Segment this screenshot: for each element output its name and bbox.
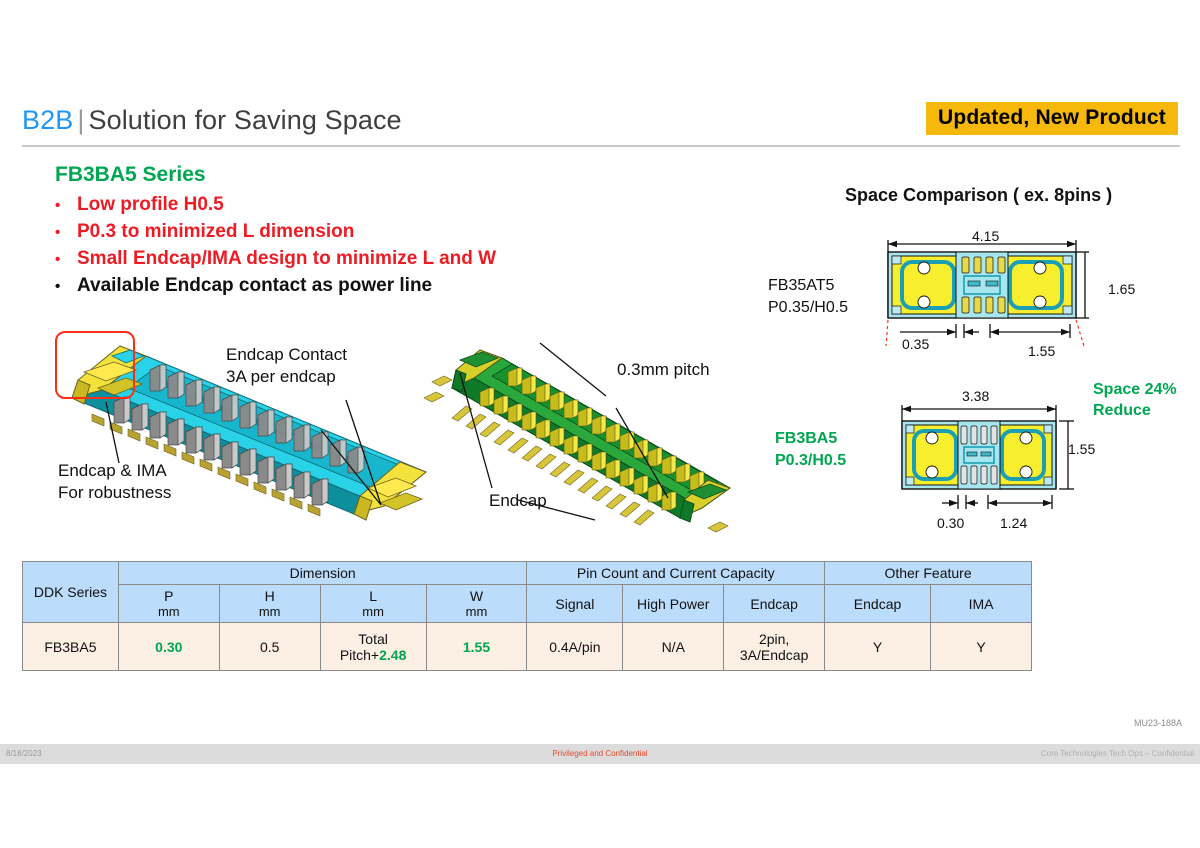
page-title-separator: | bbox=[73, 105, 88, 135]
page-title-accent: B2B bbox=[22, 105, 73, 135]
list-item-label: Available Endcap contact as power line bbox=[77, 273, 432, 300]
page-title: B2B|Solution for Saving Space bbox=[22, 105, 402, 136]
callout-endcap: Endcap bbox=[489, 491, 547, 511]
connector-topview-fb35at5 bbox=[880, 228, 1090, 348]
cell-ima-feature: Y bbox=[931, 623, 1032, 671]
feature-list: • Low profile H0.5 • P0.3 to minimized L… bbox=[55, 192, 695, 300]
callout-endcap-ima: Endcap & IMA For robustness bbox=[58, 460, 171, 505]
cell-endcap-feature: Y bbox=[825, 623, 931, 671]
header-endcap-feature: Endcap bbox=[825, 585, 931, 623]
table-row: FB3BA5 0.30 0.5 Total Pitch+2.48 1.55 0.… bbox=[23, 623, 1032, 671]
document-code: MU23-188A bbox=[1134, 718, 1182, 728]
footer-org: Core Technologies Tech Ops – Confidentia… bbox=[1041, 749, 1194, 758]
footer-date: 8/18/2023 bbox=[6, 749, 42, 758]
header-p: Pmm bbox=[118, 585, 219, 623]
footer-confidential-notice: Privileged and Confidential bbox=[552, 749, 647, 758]
header-pin-count: Pin Count and Current Capacity bbox=[527, 562, 825, 585]
header-ima-feature: IMA bbox=[931, 585, 1032, 623]
header-ddk-series: DDK Series bbox=[23, 562, 119, 623]
comparison-title: Space Comparison ( ex. 8pins ) bbox=[845, 185, 1112, 206]
dim-fb35at5-width: 4.15 bbox=[972, 228, 999, 244]
list-item-label: Low profile H0.5 bbox=[77, 192, 224, 219]
list-item-label: Small Endcap/IMA design to minimize L an… bbox=[77, 246, 496, 273]
header-high-power: High Power bbox=[623, 585, 724, 623]
cell-high-power: N/A bbox=[623, 623, 724, 671]
callout-endcap-contact: Endcap Contact 3A per endcap bbox=[226, 344, 347, 389]
connector-topview-fb3ba5 bbox=[880, 393, 1090, 521]
bullet-icon: • bbox=[55, 222, 77, 243]
dim-fb3ba5-pitch: 0.30 bbox=[937, 515, 964, 531]
cell-p: 0.30 bbox=[118, 623, 219, 671]
dim-fb35at5-height: 1.65 bbox=[1108, 281, 1135, 297]
spec-table: DDK Series Dimension Pin Count and Curre… bbox=[22, 561, 1032, 671]
header-endcap-current: Endcap bbox=[724, 585, 825, 623]
title-divider bbox=[22, 145, 1180, 147]
header-signal: Signal bbox=[527, 585, 623, 623]
list-item-label: P0.3 to minimized L dimension bbox=[77, 219, 354, 246]
bullet-icon: • bbox=[55, 249, 77, 270]
bullet-icon: • bbox=[55, 276, 77, 297]
footer-bar: 8/18/2023 Privileged and Confidential Co… bbox=[0, 744, 1200, 764]
cell-w: 1.55 bbox=[426, 623, 527, 671]
cell-signal: 0.4A/pin bbox=[527, 623, 623, 671]
space-reduce-note: Space 24% Reduce bbox=[1093, 380, 1177, 422]
bullet-icon: • bbox=[55, 195, 77, 216]
dim-fb35at5-inner: 1.55 bbox=[1028, 343, 1055, 359]
cell-series: FB3BA5 bbox=[23, 623, 119, 671]
table-group-header-row: DDK Series Dimension Pin Count and Curre… bbox=[23, 562, 1032, 585]
list-item: • Available Endcap contact as power line bbox=[55, 273, 695, 300]
list-item: • P0.3 to minimized L dimension bbox=[55, 219, 695, 246]
list-item: • Low profile H0.5 bbox=[55, 192, 695, 219]
cell-h: 0.5 bbox=[219, 623, 320, 671]
cell-l: Total Pitch+2.48 bbox=[320, 623, 426, 671]
page-title-rest: Solution for Saving Space bbox=[88, 105, 401, 135]
dim-fb3ba5-inner: 1.24 bbox=[1000, 515, 1027, 531]
cell-endcap-current: 2pin, 3A/Endcap bbox=[724, 623, 825, 671]
dim-fb3ba5-width: 3.38 bbox=[962, 388, 989, 404]
callout-pitch: 0.3mm pitch bbox=[617, 360, 710, 380]
table-sub-header-row: Pmm Hmm Lmm Wmm Signal High Power Endcap… bbox=[23, 585, 1032, 623]
series-heading: FB3BA5 Series bbox=[55, 163, 206, 187]
header-w: Wmm bbox=[426, 585, 527, 623]
status-badge: Updated, New Product bbox=[926, 102, 1178, 135]
comparison-label-fb3ba5: FB3BA5 P0.3/H0.5 bbox=[775, 428, 846, 471]
header-l: Lmm bbox=[320, 585, 426, 623]
list-item: • Small Endcap/IMA design to minimize L … bbox=[55, 246, 695, 273]
header-dimension: Dimension bbox=[118, 562, 527, 585]
dim-fb3ba5-height: 1.55 bbox=[1068, 441, 1095, 457]
header-h: Hmm bbox=[219, 585, 320, 623]
dim-fb35at5-pitch: 0.35 bbox=[902, 336, 929, 352]
header-other-feature: Other Feature bbox=[825, 562, 1032, 585]
comparison-label-fb35at5: FB35AT5 P0.35/H0.5 bbox=[768, 275, 848, 318]
